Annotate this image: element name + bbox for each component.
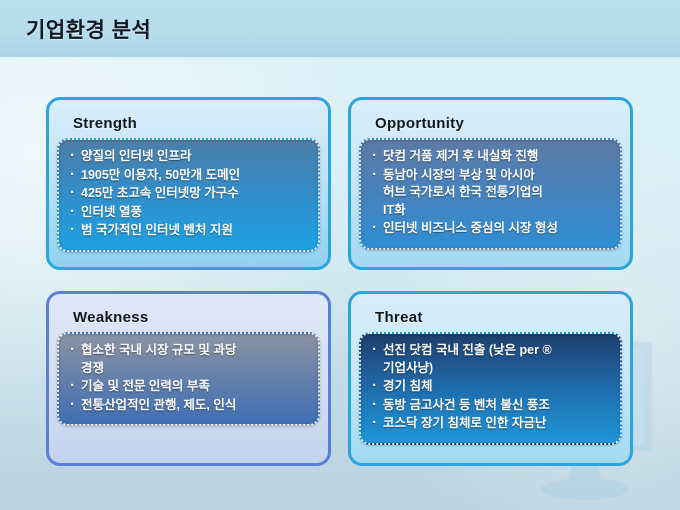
swot-quadrant-strength: Strength 양질의 인터넷 인프라 1905만 이용자, 50만개 도메인…	[46, 97, 331, 270]
list-item: 경기 침체	[371, 378, 610, 396]
list-item: 인터넷 열풍	[69, 204, 308, 222]
bullet-panel-opportunity: 닷컴 거품 제거 후 내실화 진행 동남아 시장의 부상 및 아시아 허브 국가…	[359, 138, 622, 250]
list-item: 기술 및 전문 인력의 부족	[69, 378, 308, 396]
bullet-panel-threat: 선진 닷컴 국내 진출 (낮은 per ® 기업사냥) 경기 침체 동방 금고사…	[359, 332, 622, 445]
bullet-panel-strength: 양질의 인터넷 인프라 1905만 이용자, 50만개 도메인 425만 초고속…	[57, 138, 320, 252]
bullet-list-strength: 양질의 인터넷 인프라 1905만 이용자, 50만개 도메인 425만 초고속…	[69, 148, 308, 240]
bullet-list-threat: 선진 닷컴 국내 진출 (낮은 per ® 기업사냥) 경기 침체 동방 금고사…	[371, 342, 610, 433]
list-item: 동남아 시장의 부상 및 아시아 허브 국가로서 한국 전통기업의 IT화	[371, 167, 610, 220]
bullet-panel-weakness: 협소한 국내 시장 규모 및 과당 경쟁 기술 및 전문 인력의 부족 전통산업…	[57, 332, 320, 426]
swot-quadrant-opportunity: Opportunity 닷컴 거품 제거 후 내실화 진행 동남아 시장의 부상…	[348, 97, 633, 270]
list-item: 전통산업적인 관행, 제도, 인식	[69, 397, 308, 415]
list-item: 425만 초고속 인터넷망 가구수	[69, 185, 308, 203]
bullet-list-opportunity: 닷컴 거품 제거 후 내실화 진행 동남아 시장의 부상 및 아시아 허브 국가…	[371, 148, 610, 238]
page-title: 기업환경 분석	[26, 14, 151, 44]
bullet-list-weakness: 협소한 국내 시장 규모 및 과당 경쟁 기술 및 전문 인력의 부족 전통산업…	[69, 342, 308, 414]
list-item: 양질의 인터넷 인프라	[69, 148, 308, 166]
quadrant-heading-threat: Threat	[359, 302, 622, 332]
list-item: 선진 닷컴 국내 진출 (낮은 per ® 기업사냥)	[371, 342, 610, 377]
swot-quadrant-weakness: Weakness 협소한 국내 시장 규모 및 과당 경쟁 기술 및 전문 인력…	[46, 291, 331, 466]
list-item: 동방 금고사건 등 벤처 불신 풍조	[371, 397, 610, 415]
list-item: 코스닥 장기 침체로 인한 자금난	[371, 415, 610, 433]
list-item: 1905만 이용자, 50만개 도메인	[69, 167, 308, 185]
list-item: 협소한 국내 시장 규모 및 과당 경쟁	[69, 342, 308, 377]
swot-quadrant-threat: Threat 선진 닷컴 국내 진출 (낮은 per ® 기업사냥) 경기 침체…	[348, 291, 633, 466]
quadrant-heading-weakness: Weakness	[57, 302, 320, 332]
quadrant-heading-opportunity: Opportunity	[359, 108, 622, 138]
slide-canvas: 기업환경 분석 Strength 양질의 인터넷 인프라 1905만 이용자, …	[0, 0, 680, 510]
list-item: 인터넷 비즈니스 중심의 시장 형성	[371, 220, 610, 238]
list-item: 닷컴 거품 제거 후 내실화 진행	[371, 148, 610, 166]
list-item: 범 국가적인 인터넷 벤처 지원	[69, 222, 308, 240]
quadrant-heading-strength: Strength	[57, 108, 320, 138]
